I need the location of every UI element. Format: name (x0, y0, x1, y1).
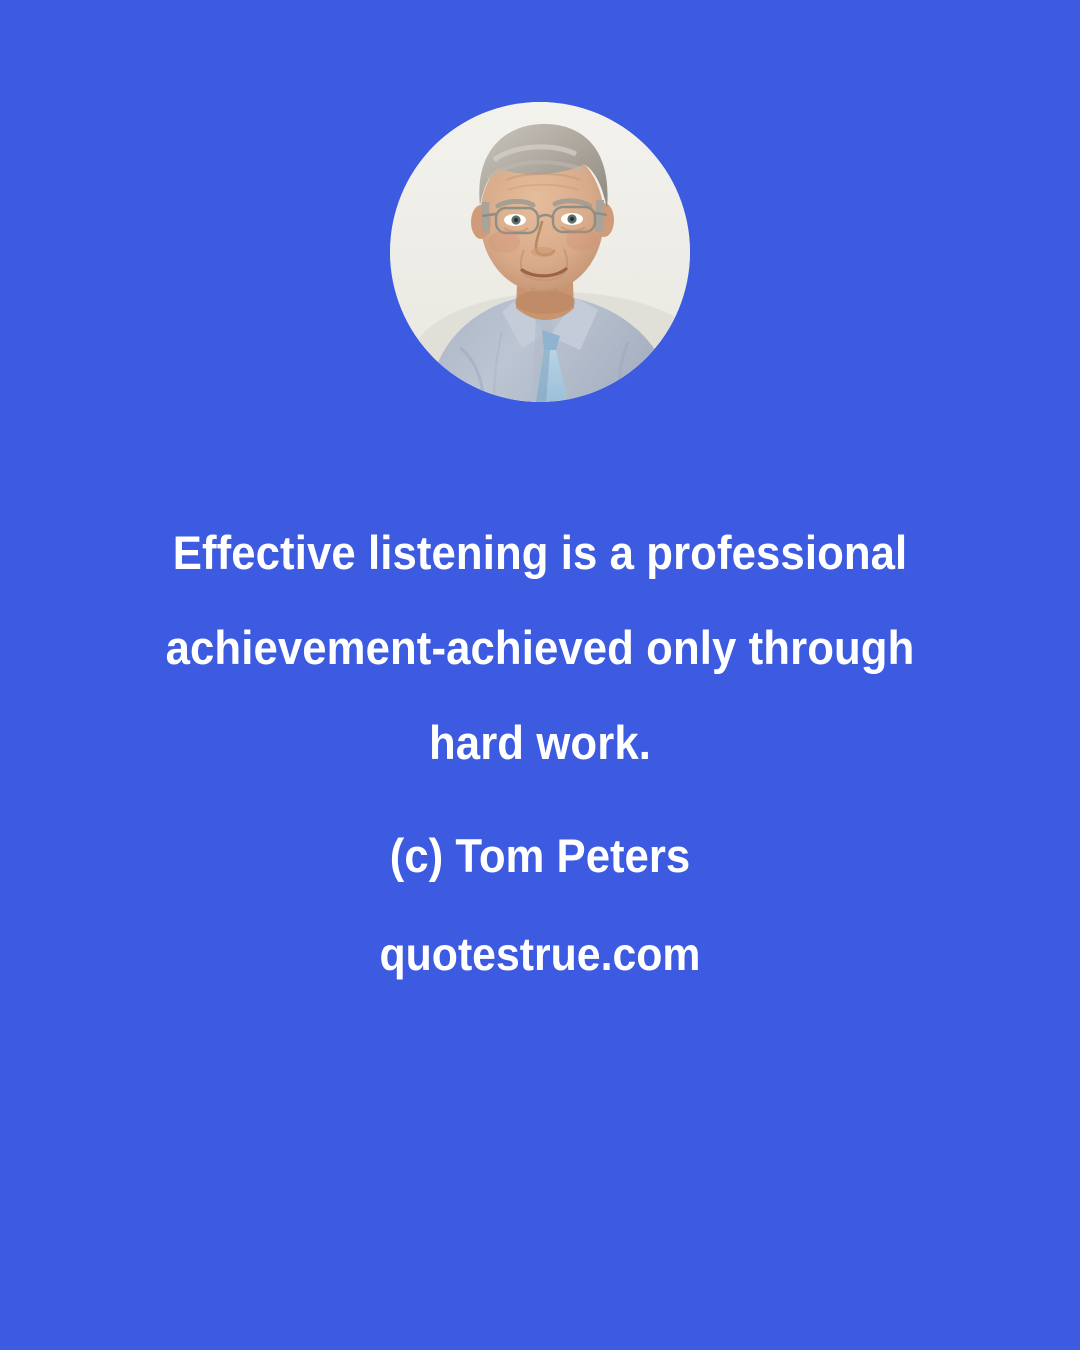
website-watermark: quotestrue.com (38, 924, 1042, 984)
avatar (390, 102, 690, 402)
quote-line-1: Effective listening is a professional (38, 505, 1042, 600)
portrait-avatar-icon (390, 102, 690, 402)
quote-text-block: Effective listening is a professional ac… (0, 505, 1080, 984)
quote-attribution: (c) Tom Peters (38, 826, 1042, 886)
portrait-container (390, 102, 690, 402)
quote-line-3: hard work. (38, 695, 1042, 790)
quote-card: Effective listening is a professional ac… (0, 0, 1080, 1350)
quote-line-2: achievement-achieved only through (38, 600, 1042, 695)
